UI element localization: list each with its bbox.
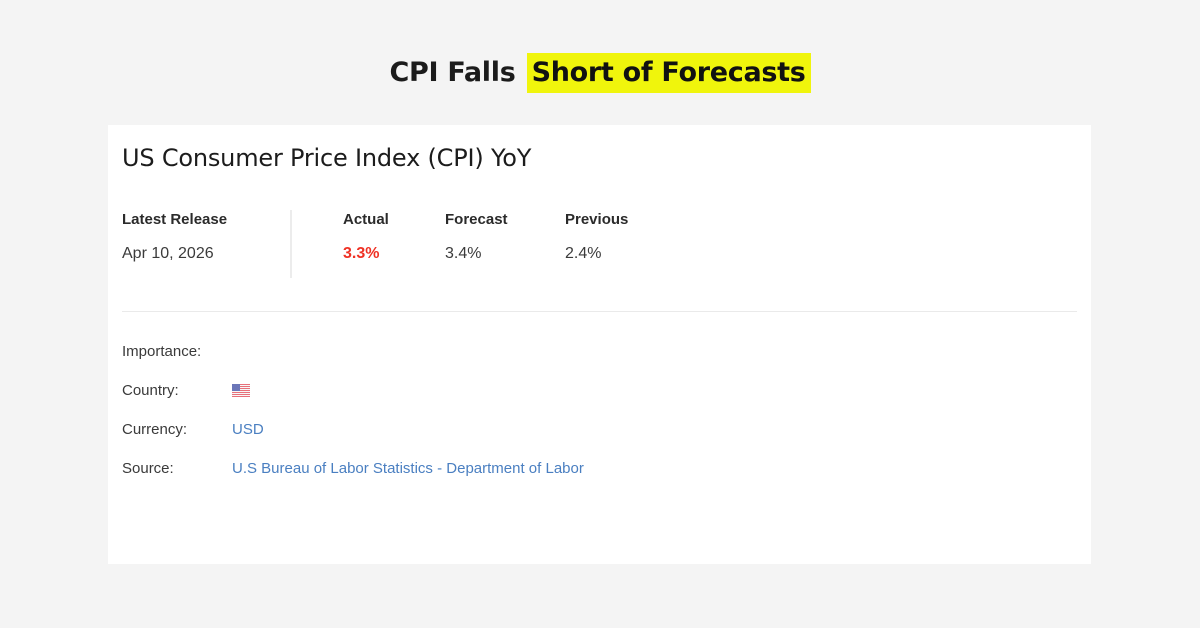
meta-label-country: Country:	[122, 382, 232, 399]
meta-value-country	[232, 384, 250, 397]
stat-previous: Previous 2.4%	[565, 210, 628, 264]
meta-label-importance: Importance:	[122, 343, 232, 360]
stat-latest-release: Latest Release Apr 10, 2026	[122, 210, 227, 264]
page-headline: CPI Falls Short of Forecasts	[0, 57, 1200, 88]
stat-latest-release-label: Latest Release	[122, 210, 227, 230]
stat-forecast: Forecast 3.4%	[445, 210, 508, 264]
stats-row: Latest Release Apr 10, 2026 Actual 3.3% …	[122, 210, 1072, 280]
stat-actual: Actual 3.3%	[343, 210, 389, 264]
meta-label-source: Source:	[122, 460, 232, 477]
stat-previous-value: 2.4%	[565, 244, 628, 264]
stat-forecast-label: Forecast	[445, 210, 508, 230]
stat-latest-release-value: Apr 10, 2026	[122, 244, 227, 264]
stats-vertical-divider	[290, 210, 292, 278]
headline-plain-text: CPI Falls	[389, 57, 526, 88]
meta-row-currency: Currency: USD	[122, 410, 1022, 449]
meta-label-currency: Currency:	[122, 421, 232, 438]
meta-value-source[interactable]: U.S Bureau of Labor Statistics - Departm…	[232, 460, 584, 477]
card-section-divider	[122, 311, 1077, 312]
stat-actual-label: Actual	[343, 210, 389, 230]
meta-row-source: Source: U.S Bureau of Labor Statistics -…	[122, 449, 1022, 488]
economic-indicator-card: US Consumer Price Index (CPI) YoY Latest…	[108, 125, 1091, 564]
us-flag-icon	[232, 384, 250, 397]
headline-highlighted-text: Short of Forecasts	[527, 53, 811, 93]
meta-list: Importance: Country: Currency: USD Sourc…	[122, 332, 1022, 488]
stat-forecast-value: 3.4%	[445, 244, 508, 264]
meta-row-country: Country:	[122, 371, 1022, 410]
stat-actual-value: 3.3%	[343, 244, 389, 264]
meta-value-currency[interactable]: USD	[232, 421, 264, 438]
meta-row-importance: Importance:	[122, 332, 1022, 371]
card-title: US Consumer Price Index (CPI) YoY	[122, 144, 531, 172]
stat-previous-label: Previous	[565, 210, 628, 230]
